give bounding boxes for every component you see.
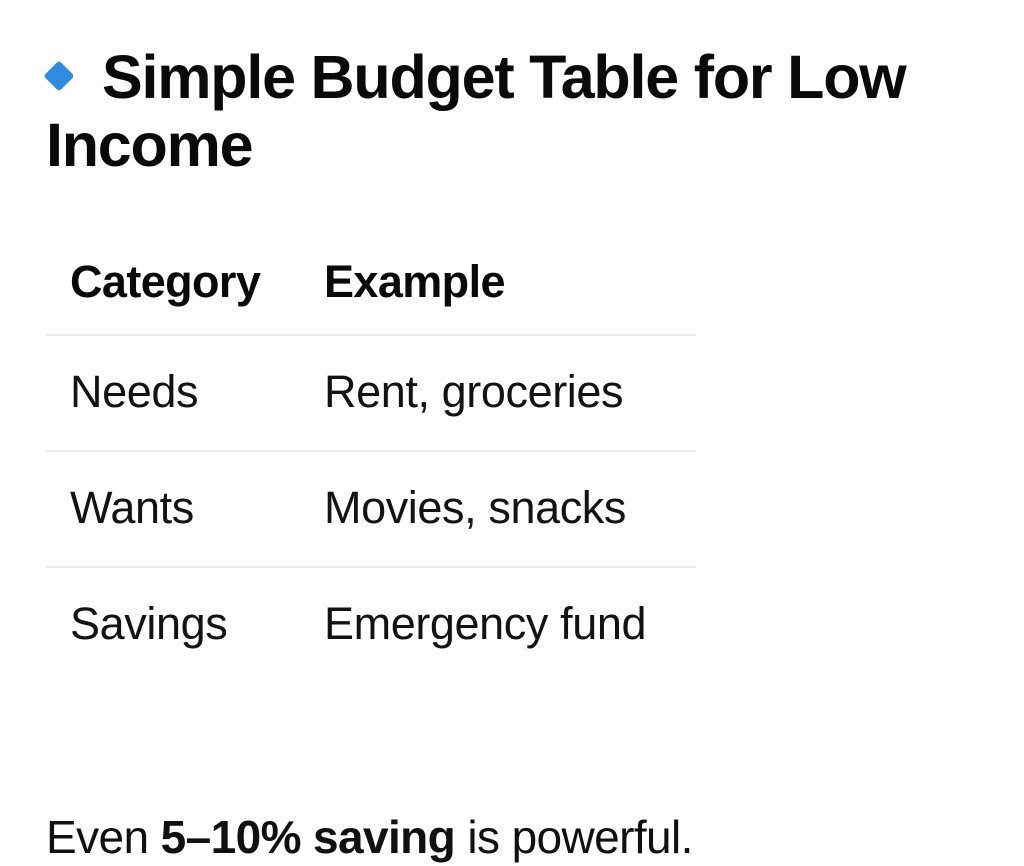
table-header-row: Category Example xyxy=(46,240,696,335)
page-title: Simple Budget Table for Low Income xyxy=(46,43,926,179)
footnote-tail: is powerful. xyxy=(455,811,693,863)
article-page: Simple Budget Table for Low Income Categ… xyxy=(0,0,1024,826)
cell-category: Needs xyxy=(46,335,300,451)
cell-category: Wants xyxy=(46,451,300,567)
table-row: Savings Emergency fund xyxy=(46,567,696,682)
cell-category: Savings xyxy=(46,567,300,682)
cell-example: Movies, snacks xyxy=(300,451,696,567)
footnote: Even 5–10% saving is powerful. xyxy=(46,808,986,866)
blue-diamond-icon xyxy=(46,63,72,89)
cell-example: Emergency fund xyxy=(300,567,696,682)
cell-example: Rent, groceries xyxy=(300,335,696,451)
table-row: Needs Rent, groceries xyxy=(46,335,696,451)
table-row: Wants Movies, snacks xyxy=(46,451,696,567)
footnote-lead: Even xyxy=(46,811,161,863)
budget-table: Category Example Needs Rent, groceries W… xyxy=(46,240,696,682)
column-header-category: Category xyxy=(46,240,300,335)
page-title-text: Simple Budget Table for Low Income xyxy=(46,43,906,179)
footnote-emphasis: 5–10% saving xyxy=(161,811,456,863)
column-header-example: Example xyxy=(300,240,696,335)
